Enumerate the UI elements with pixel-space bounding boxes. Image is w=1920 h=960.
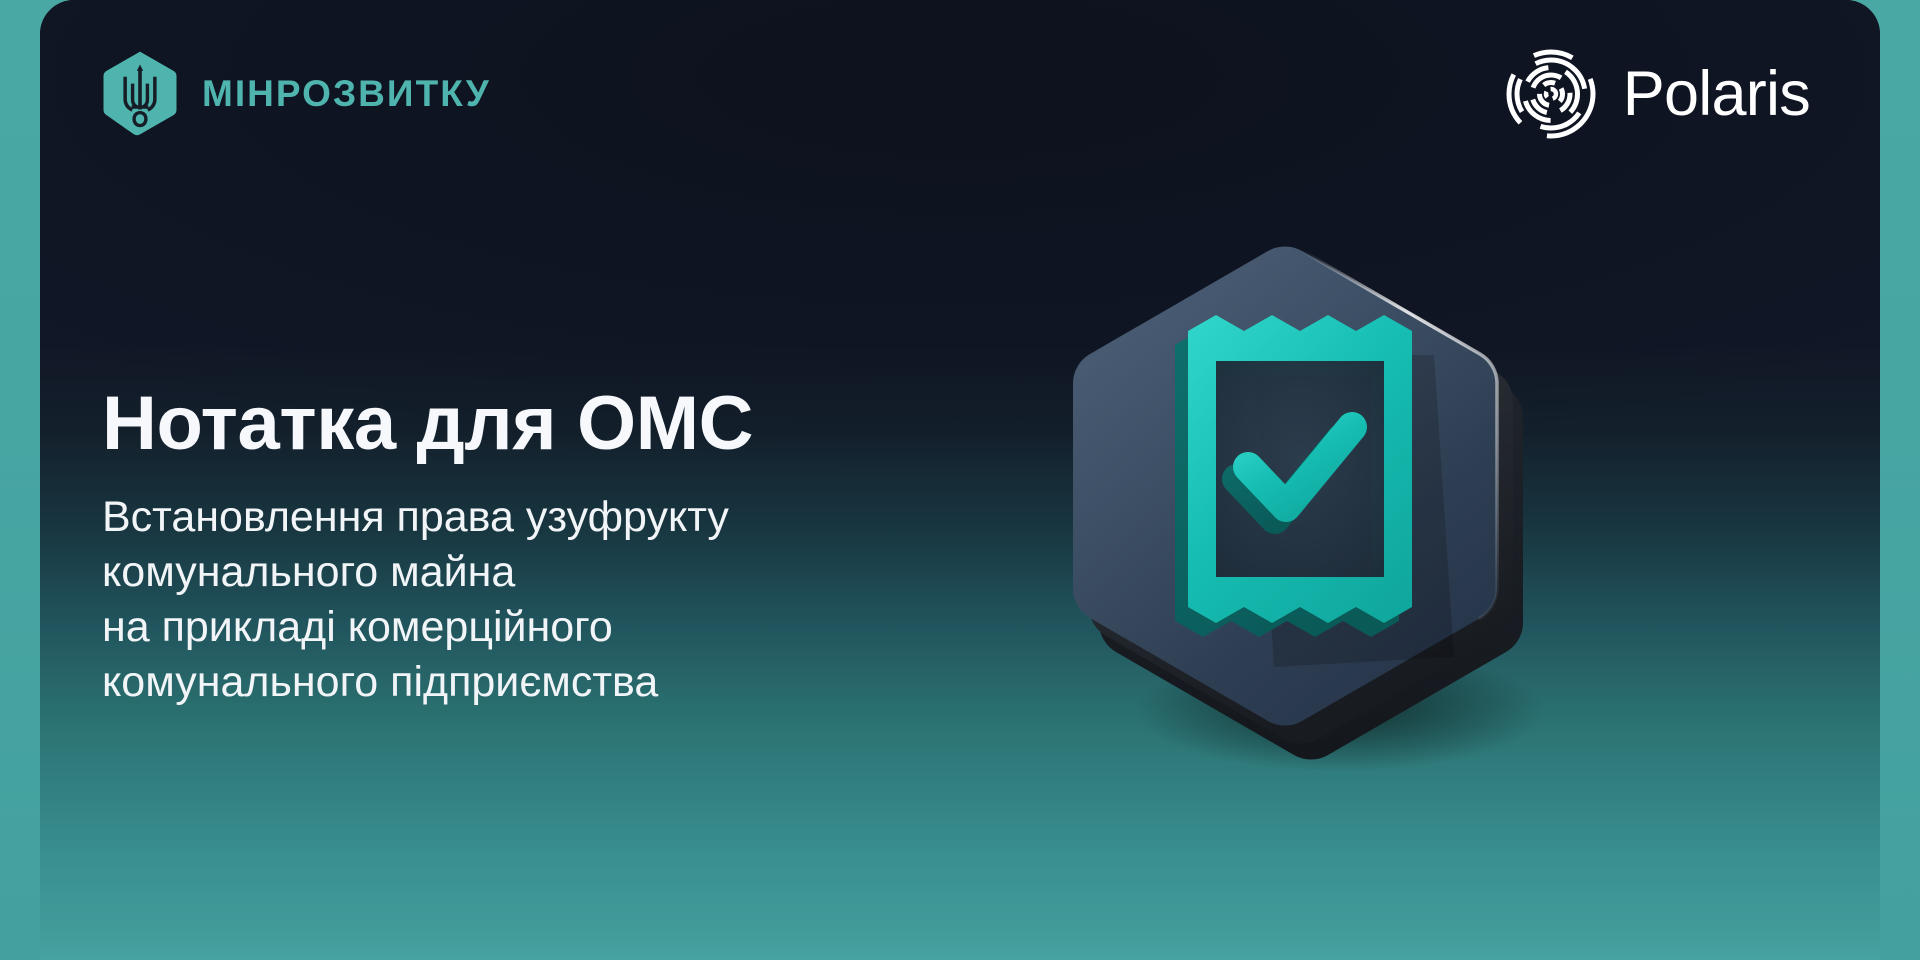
page-title: Нотатка для ОМС — [102, 386, 1062, 462]
banner-stage: МІНРОЗВИТКУ Po — [0, 0, 1920, 960]
subtitle-line-1: Встановлення права узуфрукту — [102, 490, 1062, 545]
subtitle-line-2: комунального майна — [102, 545, 1062, 600]
ministry-wordmark: МІНРОЗВИТКУ — [202, 75, 491, 112]
banner-card: МІНРОЗВИТКУ Po — [40, 0, 1880, 960]
subtitle-line-3: на прикладі комерційного — [102, 600, 1062, 655]
polaris-concentric-arcs-icon — [1505, 48, 1597, 140]
banner-header: МІНРОЗВИТКУ Po — [40, 0, 1880, 200]
ministry-logo-lockup: МІНРОЗВИТКУ — [102, 50, 491, 136]
polaris-wordmark: Polaris — [1623, 63, 1810, 126]
ukrainian-trident-hexagon-icon — [102, 50, 178, 136]
subtitle-line-4: комунального підприємства — [102, 655, 1062, 710]
receipt-check-hexagon-3d-icon — [1040, 215, 1600, 775]
banner-copy-block: Нотатка для ОМС Встановлення права узуфр… — [102, 386, 1062, 710]
page-subtitle: Встановлення права узуфрукту комунальног… — [102, 490, 1062, 710]
polaris-logo-lockup: Polaris — [1505, 48, 1810, 140]
